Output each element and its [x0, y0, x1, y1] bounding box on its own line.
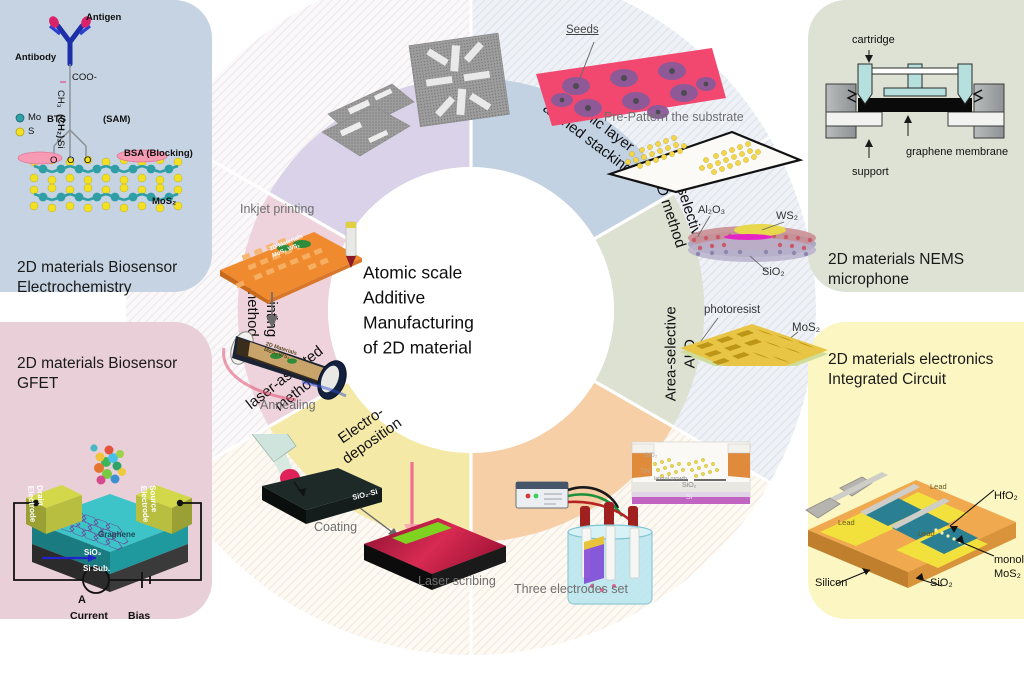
- label-antibody: Antibody: [15, 52, 56, 63]
- caption-al2o3: Al₂O₃: [698, 204, 725, 216]
- legend-label-mo: Mo: [28, 112, 41, 123]
- figure-canvas: Atomic scale Additive Manufacturing of 2…: [0, 0, 1024, 619]
- label-ic-sio2: SiO₂: [930, 577, 953, 589]
- label-ammeter: A: [78, 594, 86, 606]
- caption-ws2: WS₂: [776, 210, 798, 222]
- label-graphene: Graphene: [98, 530, 135, 539]
- label-silicon: Silicon: [815, 577, 847, 589]
- caption-three-electrodes-set: Three electrodes set: [514, 582, 628, 596]
- ald-heterostructure: [688, 224, 816, 262]
- label-o3: O: [84, 155, 91, 166]
- label-ch3: CH₃: [55, 90, 66, 108]
- label-bsa-blocking: BSA (Blocking): [124, 148, 193, 159]
- label-current: Current: [70, 610, 108, 622]
- protein-molecule: [90, 444, 126, 484]
- stacked-flake-square: [409, 33, 510, 127]
- caption-seeds: Seeds: [566, 24, 599, 36]
- mos2-legend: [16, 114, 24, 136]
- label-monolayer-mos2: monolayer MoS₂: [994, 554, 1024, 582]
- caption-device-sio2: SiO₂: [682, 482, 696, 489]
- electro-deposition-art: SiO₂ TiN lateral growth SiO₂ Si Three el…: [506, 436, 806, 606]
- label-lead-2: Lead: [930, 482, 947, 491]
- label-mos2: MoS₂: [152, 196, 176, 207]
- prepattern-substrate: [610, 132, 800, 192]
- label-o2: O: [67, 155, 74, 166]
- label-hfo2: HfO₂: [994, 490, 1018, 502]
- panel-title-biosensor-electrochemistry: 2D materials Biosensor Electrochemistry: [17, 258, 177, 299]
- caption-ald-mos2: MoS₂: [792, 322, 820, 334]
- interface-layer: [724, 234, 772, 240]
- panel-biosensor-electrochemistry: 2D materials Biosensor Electrochemistry: [0, 0, 212, 292]
- caption-laser-scribing: Laser scribing: [418, 574, 496, 588]
- caption-annealing: Annealing: [260, 398, 316, 412]
- panel-title-integrated-circuit: 2D materials electronics Integrated Circ…: [828, 350, 993, 391]
- caption-device-tin: TiN: [640, 468, 650, 475]
- atomic-layer-stacking-art: [318, 22, 518, 167]
- legend-label-s: S: [28, 126, 34, 137]
- annealing-tube: [224, 328, 352, 403]
- caption-device-si: Si: [686, 494, 692, 501]
- biosensor-electrochemistry-art: [8, 8, 208, 248]
- area-selective-ald-art: Al₂O₃ WS₂ SiO₂ photoresist MoS₂: [676, 196, 836, 366]
- label-drain-electrode: Drain Electrode: [25, 485, 45, 523]
- label-coo: COO-: [72, 72, 97, 83]
- label-si-sub: Si Sub.: [83, 564, 110, 573]
- laser-assisted-art: Coating Laser scribing SiO₂-Si: [252, 434, 524, 602]
- integrated-circuit-art: [798, 422, 1024, 602]
- panel-integrated-circuit: 2D materials electronics Integrated Circ…: [808, 322, 1024, 619]
- label-source-electrode: Source Electrode: [138, 485, 158, 523]
- panel-biosensor-gfet: 2D materials Biosensor GFET: [0, 322, 212, 619]
- label-support: support: [852, 166, 889, 178]
- caption-inkjet-printing: Inkjet printing: [240, 202, 314, 216]
- site-selective-cvd-art: Seeds Pre-Pattern the substrate: [524, 14, 814, 194]
- label-graphene-membrane: graphene membrane: [906, 146, 1008, 158]
- label-antigen: Antigen: [86, 12, 121, 23]
- panel-nems-microphone: 2D materials NEMS microphone: [808, 0, 1024, 292]
- caption-coating: Coating: [314, 520, 357, 534]
- label-cartridge: cartridge: [852, 34, 895, 46]
- label-si: Si: [55, 140, 66, 148]
- panel-title-nems-microphone: 2D materials NEMS microphone: [828, 250, 964, 291]
- label-o1: O: [50, 155, 57, 166]
- caption-device-sio2-top: SiO₂: [644, 452, 657, 459]
- label-sam: (SAM): [103, 114, 130, 125]
- printing-method-art: Inkjet printing Annealing 2D Materials M…: [206, 196, 406, 416]
- caption-pre-pattern-substrate: Pre-Pattern the substrate: [604, 110, 744, 124]
- label-bias: Bias: [128, 610, 150, 622]
- panel-title-biosensor-gfet: 2D materials Biosensor GFET: [17, 354, 177, 395]
- label-lead-3: Lead: [918, 529, 935, 538]
- label-lead-1: Lead: [838, 518, 855, 527]
- label-ch2: (CH₂)₃: [55, 114, 66, 143]
- graphene-membrane-layer: [858, 98, 972, 112]
- caption-ald-sio2: SiO₂: [762, 266, 785, 278]
- label-gfet-sio2: SiO₂: [84, 548, 101, 557]
- caption-photoresist: photoresist: [704, 304, 760, 316]
